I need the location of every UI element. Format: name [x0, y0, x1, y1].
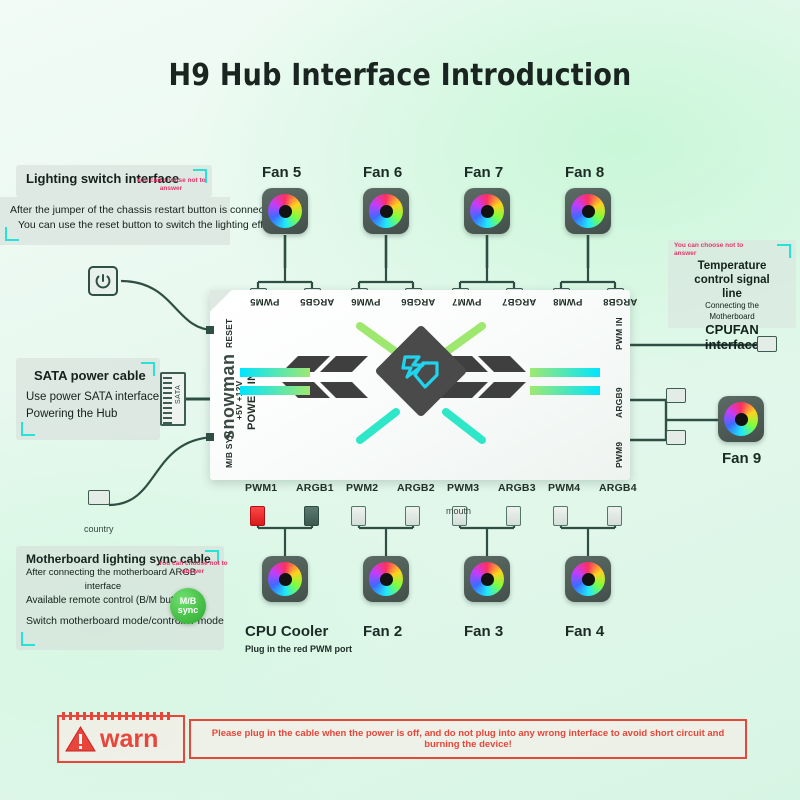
- sata-connector-label: SATA: [175, 385, 182, 404]
- fan-rgb-ring-icon: [268, 194, 302, 228]
- fan-2-label: Fan 2: [363, 623, 402, 640]
- hub-pin-mb-syn: [206, 433, 214, 441]
- fan-9[interactable]: [718, 396, 764, 442]
- fan-3-label: Fan 3: [464, 623, 503, 640]
- corner-bracket-icon: [21, 632, 35, 646]
- fan-hub-icon: [481, 573, 494, 586]
- callout-cpufan: You can choose not to answer Temperature…: [668, 240, 796, 328]
- snowman-logo-icon: [393, 345, 449, 397]
- sata-connector-icon: SATA: [160, 372, 186, 426]
- sata-pins: [163, 377, 172, 425]
- country-label: country: [84, 524, 114, 534]
- callout-sata-title: SATA power cable: [34, 368, 150, 383]
- port-pwm2[interactable]: [351, 506, 366, 526]
- callout-lighting-switch-note: You can choose not to answer: [136, 177, 206, 193]
- plug-pwm9-icon: [666, 430, 686, 445]
- hub-bottom-label-pwm3: PWM3: [447, 482, 479, 494]
- corner-bracket-icon: [141, 362, 155, 376]
- fan-rgb-ring-icon: [470, 562, 504, 596]
- fan-8-label: Fan 8: [565, 164, 604, 181]
- diagram-canvas: H9 Hub Interface Introduction: [0, 0, 800, 800]
- port-argb3[interactable]: [506, 506, 521, 526]
- fan-hub-icon: [279, 205, 292, 218]
- callout-lighting-switch-body: After the jumper of the chassis restart …: [0, 197, 230, 245]
- fan-hub-icon: [735, 413, 748, 426]
- callout-sata-line1: Use power SATA interface: [26, 389, 150, 406]
- fan-rgb-ring-icon: [571, 194, 605, 228]
- cpu-cooler-label: CPU Cooler: [245, 623, 328, 640]
- fan-4[interactable]: [565, 556, 611, 602]
- callout-lighting-switch-line2: You can use the reset button to switch t…: [10, 218, 220, 233]
- cpu-cooler-fan[interactable]: [262, 556, 308, 602]
- corner-bracket-icon: [777, 244, 791, 258]
- fan-8[interactable]: [565, 188, 611, 234]
- fan-2[interactable]: [363, 556, 409, 602]
- callout-lighting-switch-line1: After the jumper of the chassis restart …: [10, 203, 220, 218]
- hub-bottom-label-pwm1: PWM1: [245, 482, 277, 494]
- fan-rgb-ring-icon: [268, 562, 302, 596]
- reset-button-icon[interactable]: [88, 266, 118, 296]
- hub-bottom-label-argb4: ARGB4: [599, 482, 637, 494]
- warning-message: Please plug in the cable when the power …: [199, 728, 737, 750]
- fan-7-label: Fan 7: [464, 164, 503, 181]
- corner-bracket-icon: [21, 422, 35, 436]
- warning-triangle-icon: [65, 725, 96, 753]
- fan-hub-icon: [481, 205, 494, 218]
- fan-hub-icon: [279, 573, 292, 586]
- warning-message-bar: Please plug in the cable when the power …: [189, 719, 747, 759]
- callout-cpufan-note: You can choose not to answer: [674, 242, 754, 258]
- hub-bottom-label-pwm2: PWM2: [346, 482, 378, 494]
- warning-banner: warn Please plug in the cable when the p…: [57, 715, 747, 763]
- fan-9-label: Fan 9: [722, 450, 761, 467]
- fan-hub-icon: [380, 205, 393, 218]
- fan-6-label: Fan 6: [363, 164, 402, 181]
- fan-5-label: Fan 5: [262, 164, 301, 181]
- port-pwm1-red[interactable]: [250, 506, 265, 526]
- callout-cpufan-line4: Motherboard: [678, 312, 786, 322]
- cpufan-header-icon: [757, 336, 777, 352]
- fan-rgb-ring-icon: [470, 194, 504, 228]
- fan-rgb-ring-icon: [369, 194, 403, 228]
- port-pwm4[interactable]: [553, 506, 568, 526]
- callout-cpufan-line3: Connecting the: [678, 301, 786, 311]
- fan-hub-icon: [380, 573, 393, 586]
- hub-board: PWM5 ARGB5 PWM6 ARGB6 PWM7 ARGB7 PWM8 AR…: [210, 290, 630, 480]
- fan-rgb-ring-icon: [369, 562, 403, 596]
- fan-hub-icon: [582, 205, 595, 218]
- hub-bottom-label-argb3: ARGB3: [498, 482, 536, 494]
- port-argb1[interactable]: [304, 506, 319, 526]
- port-argb4[interactable]: [607, 506, 622, 526]
- port-argb2[interactable]: [405, 506, 420, 526]
- country-connector-icon: [88, 490, 110, 505]
- fan-5[interactable]: [262, 188, 308, 234]
- fan-hub-icon: [582, 573, 595, 586]
- callout-sata-line2: Powering the Hub: [26, 406, 150, 423]
- callout-sata: SATA power cable Use power SATA interfac…: [16, 358, 160, 440]
- fan-3[interactable]: [464, 556, 510, 602]
- mouth-label: mouth: [446, 506, 471, 516]
- warning-badge-text: warn: [100, 727, 158, 752]
- page-title: H9 Hub Interface Introduction: [0, 58, 800, 93]
- cpu-cooler-note: Plug in the red PWM port: [245, 644, 352, 654]
- corner-bracket-icon: [5, 227, 19, 241]
- fan-7[interactable]: [464, 188, 510, 234]
- hub-bottom-label-argb2: ARGB2: [397, 482, 435, 494]
- hub-pin-reset: [206, 326, 214, 334]
- mb-sync-badge: M/B sync: [170, 588, 206, 624]
- callout-cpufan-line2: line: [678, 288, 786, 302]
- fan-6[interactable]: [363, 188, 409, 234]
- fan-rgb-ring-icon: [571, 562, 605, 596]
- fan-4-label: Fan 4: [565, 623, 604, 640]
- warning-badge: warn: [57, 715, 185, 763]
- hub-bottom-label-pwm4: PWM4: [548, 482, 580, 494]
- callout-mb-sync-note: You can choose not to answer: [158, 560, 228, 576]
- callout-cpufan-line1: Temperature control signal: [678, 260, 786, 288]
- fan-rgb-ring-icon: [724, 402, 758, 436]
- hub-bottom-label-argb1: ARGB1: [296, 482, 334, 494]
- plug-argb9-icon: [666, 388, 686, 403]
